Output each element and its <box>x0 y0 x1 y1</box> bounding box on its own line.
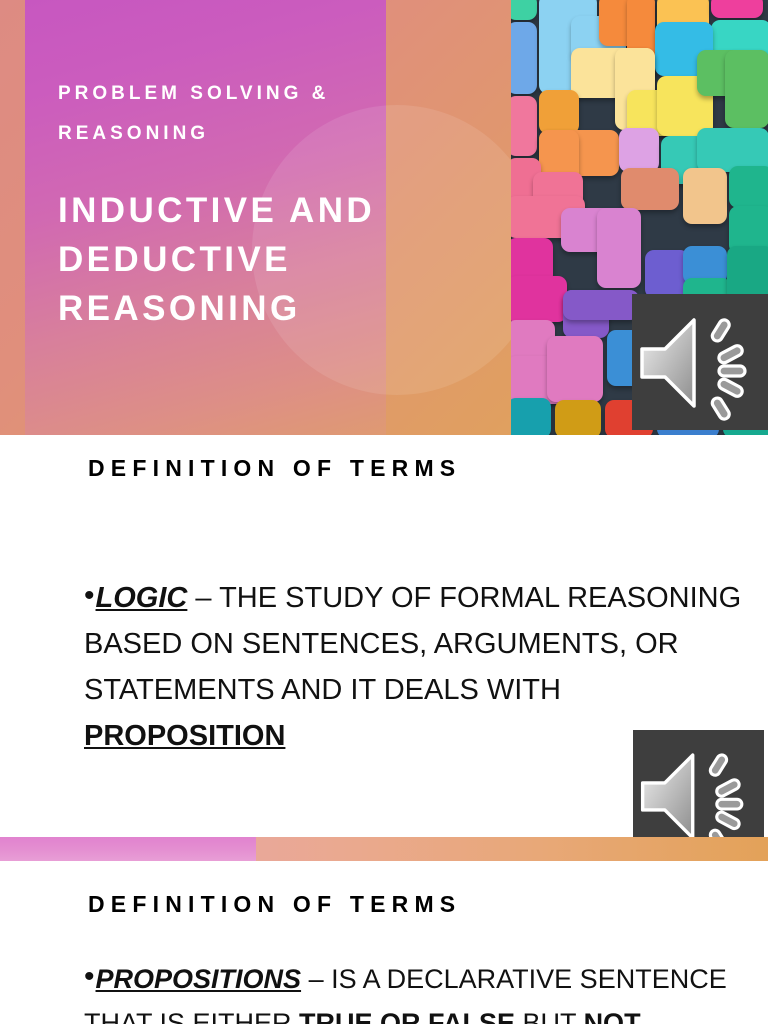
bullet-dot: • <box>84 573 95 619</box>
page-title: INDUCTIVE AND DEDUCTIVE REASONING <box>58 186 398 333</box>
title-slide: PROBLEM SOLVING & REASONING INDUCTIVE AN… <box>0 0 768 435</box>
divider-orange-segment <box>256 837 768 861</box>
bullet-dot: • <box>84 955 95 999</box>
term-proposition: PROPOSITION <box>84 720 285 752</box>
speaker-icon[interactable] <box>632 294 768 430</box>
dash-separator: – <box>187 582 219 614</box>
slide-definition-of-terms-2: DEFINITION OF TERMS •PROPOSITIONS – IS A… <box>0 861 768 1024</box>
term-logic: LOGIC <box>96 582 188 614</box>
title-eyebrow: PROBLEM SOLVING & REASONING <box>58 74 388 154</box>
term-true-or-false: TRUE OR FALSE <box>299 1008 515 1024</box>
divider-pink-segment <box>0 837 256 861</box>
slide3-bullet: •PROPOSITIONS – IS A DECLARATIVE SENTENC… <box>84 955 768 1024</box>
bullet-body-text-2: BUT <box>515 1008 584 1024</box>
slide3-heading: DEFINITION OF TERMS <box>88 891 461 918</box>
term-propositions: PROPOSITIONS <box>96 964 302 994</box>
dash-separator: – <box>301 964 331 994</box>
slide-divider-bar <box>0 837 768 861</box>
slide2-heading: DEFINITION OF TERMS <box>88 455 461 482</box>
term-not: NOT <box>584 1008 641 1024</box>
